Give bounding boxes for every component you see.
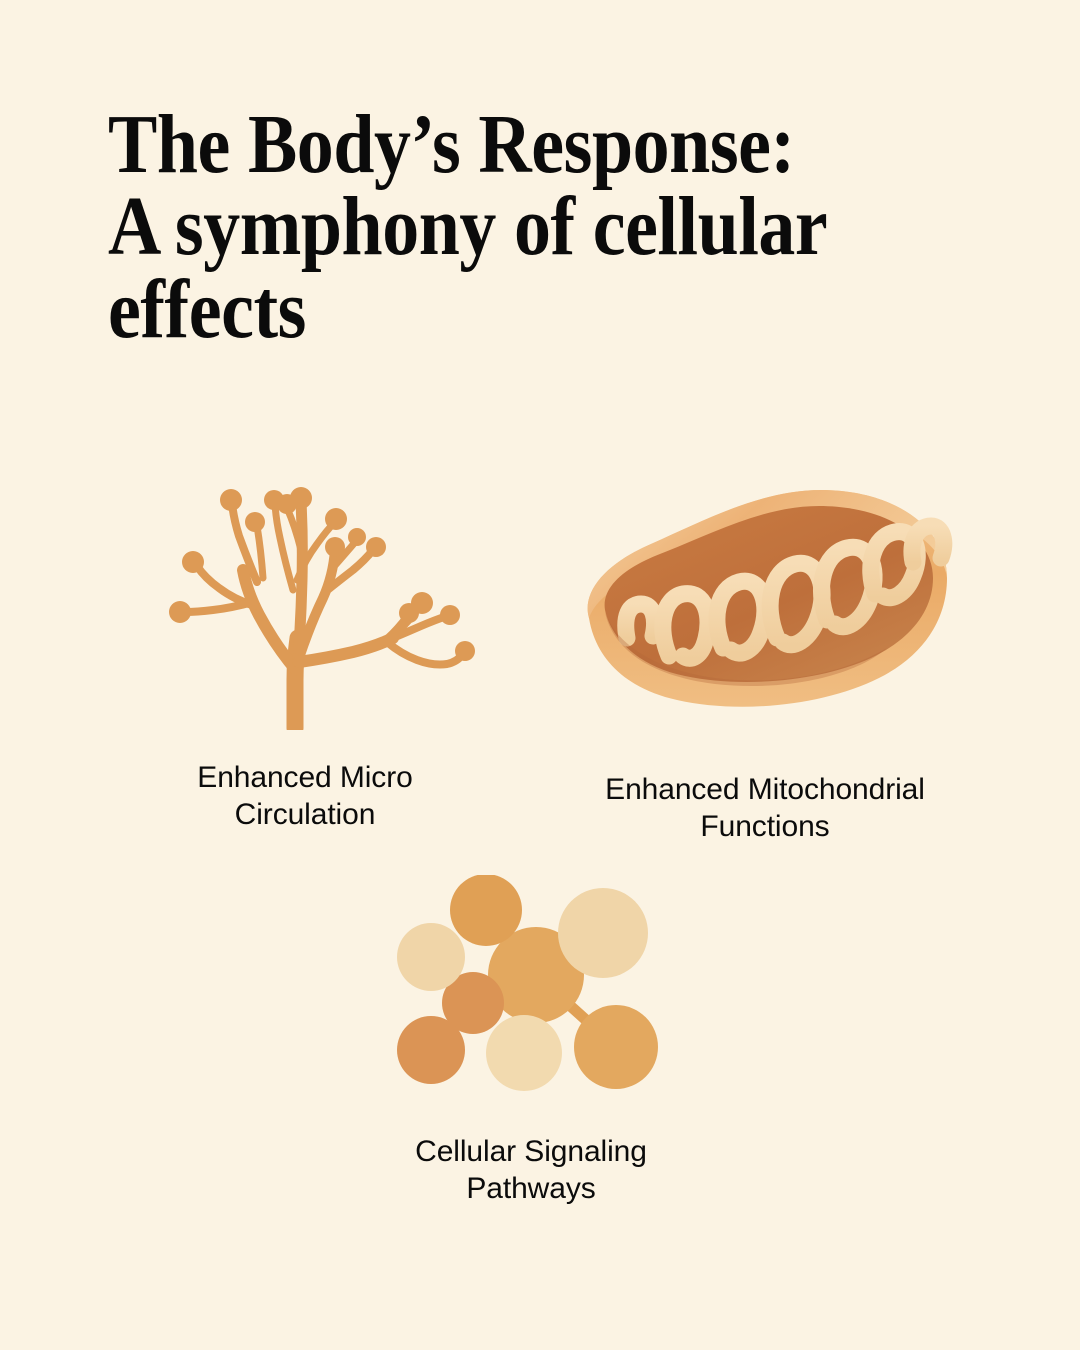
mitochondrion-icon — [565, 470, 965, 730]
molecule-node-top — [450, 875, 522, 946]
benefits-row-top: Enhanced Micro Circulation — [0, 430, 1080, 845]
page-title-line-2: A symphony of cellular — [108, 186, 882, 268]
page-title-line-3: effects — [108, 269, 882, 351]
benefit-card-mitochondrial-functions: Enhanced Mitochondrial Functions — [550, 430, 980, 845]
capillary-tree-icon — [135, 430, 475, 730]
molecule-node-upper-right — [558, 888, 648, 978]
benefit-caption-micro-circulation: Enhanced Micro Circulation — [197, 760, 412, 833]
page-title: The Body’s Response: A symphony of cellu… — [108, 104, 988, 351]
benefit-caption-cellular-signaling: Cellular Signaling Pathways — [415, 1134, 647, 1207]
molecule-network-icon — [391, 875, 671, 1100]
benefits-row-bottom: Cellular Signaling Pathways — [0, 870, 1080, 1207]
molecule-node-upper-left — [397, 923, 465, 991]
caption-line-1: Enhanced Mitochondrial — [605, 772, 925, 809]
caption-line-2: Circulation — [197, 797, 412, 834]
molecule-node-lower-left — [397, 1016, 465, 1084]
benefit-card-micro-circulation: Enhanced Micro Circulation — [95, 430, 515, 845]
poster-canvas: The Body’s Response: A symphony of cellu… — [0, 0, 1080, 1350]
caption-line-1: Cellular Signaling — [415, 1134, 647, 1171]
molecule-network-illustration — [391, 870, 671, 1100]
benefit-card-cellular-signaling: Cellular Signaling Pathways — [321, 870, 741, 1207]
caption-line-2: Pathways — [415, 1171, 647, 1208]
mitochondrion-illustration — [565, 430, 965, 730]
molecule-node-bottom — [486, 1015, 562, 1091]
page-title-line-1: The Body’s Response: — [108, 104, 882, 186]
capillary-tree-illustration — [135, 430, 475, 730]
caption-line-2: Functions — [605, 809, 925, 846]
molecule-nodes — [397, 875, 658, 1091]
caption-line-1: Enhanced Micro — [197, 760, 412, 797]
benefit-caption-mitochondrial-functions: Enhanced Mitochondrial Functions — [605, 772, 925, 845]
capillary-tips — [169, 487, 475, 661]
molecule-node-lower-right — [574, 1005, 658, 1089]
